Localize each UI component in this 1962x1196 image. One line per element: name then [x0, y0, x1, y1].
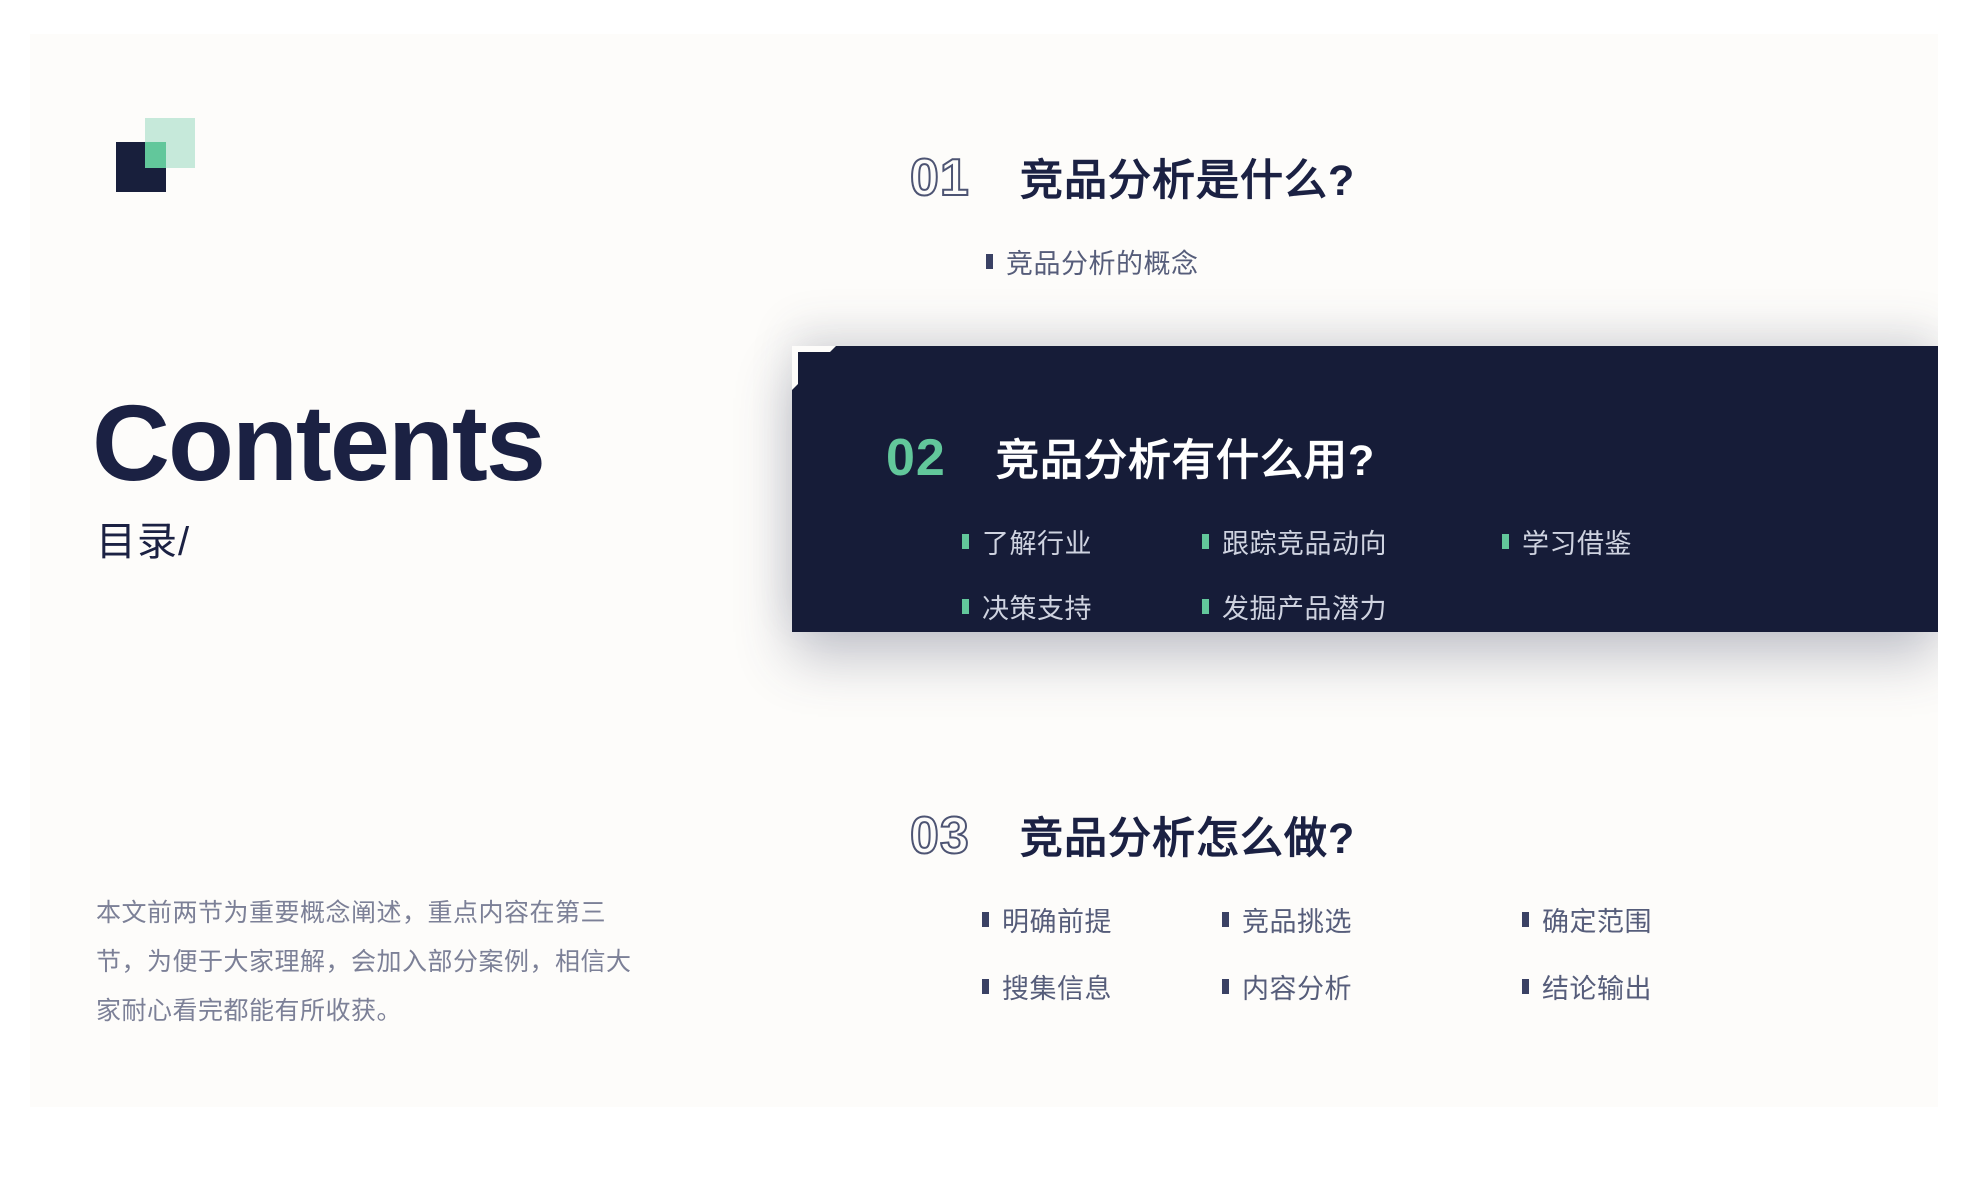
bullet-square-icon — [1522, 912, 1529, 927]
list-item[interactable]: 内容分析 — [1222, 967, 1522, 1006]
list-item-label: 明确前提 — [1002, 900, 1112, 939]
slide-canvas: Contents 目录/ 本文前两节为重要概念阐述，重点内容在第三节，为便于大家… — [30, 34, 1938, 1107]
section-02-bullet-row-1: 了解行业 跟踪竞品动向 学习借鉴 — [962, 522, 1742, 561]
list-item[interactable]: 学习借鉴 — [1502, 522, 1742, 561]
list-item[interactable]: 竞品分析的概念 — [986, 242, 1226, 281]
bullet-square-icon — [962, 599, 969, 614]
list-item-label: 竞品挑选 — [1242, 900, 1352, 939]
bullet-square-icon — [1202, 599, 1209, 614]
list-item-label: 搜集信息 — [1002, 967, 1112, 1006]
list-item[interactable]: 决策支持 — [962, 587, 1202, 626]
bullet-square-icon — [1522, 979, 1529, 994]
list-item[interactable]: 结论输出 — [1522, 967, 1762, 1006]
section-item-01[interactable]: 01 竞品分析是什么? 竞品分析的概念 — [910, 152, 1355, 281]
list-item[interactable]: 确定范围 — [1522, 900, 1762, 939]
section-03-title: 竞品分析怎么做? — [1020, 818, 1355, 861]
section-item-02[interactable]: 02 竞品分析有什么用? 了解行业 跟踪竞品动向 学习借鉴 — [886, 432, 1742, 626]
section-03-bullet-row-2: 搜集信息 内容分析 结论输出 — [982, 967, 1762, 1006]
list-item-label: 确定范围 — [1542, 900, 1652, 939]
bullet-square-icon — [1502, 534, 1509, 549]
list-item[interactable]: 搜集信息 — [982, 967, 1222, 1006]
section-item-03[interactable]: 03 竞品分析怎么做? 明确前提 竞品挑选 确定范围 — [910, 810, 1762, 1006]
section-01-title: 竞品分析是什么? — [1020, 160, 1355, 203]
list-item-label: 跟踪竞品动向 — [1222, 522, 1387, 561]
section-01-bullet-row: 竞品分析的概念 — [986, 242, 1355, 281]
list-item-label: 学习借鉴 — [1522, 522, 1632, 561]
section-01-number: 01 — [910, 152, 1020, 204]
bullet-square-icon — [982, 979, 989, 994]
sections-list: 01 竞品分析是什么? 竞品分析的概念 02 竞品分析有什么用? 了解行业 — [30, 34, 1938, 1107]
list-item-label: 发掘产品潜力 — [1222, 587, 1387, 626]
list-item-label: 了解行业 — [982, 522, 1092, 561]
list-item[interactable]: 竞品挑选 — [1222, 900, 1522, 939]
list-item[interactable]: 明确前提 — [982, 900, 1222, 939]
section-03-number: 03 — [910, 810, 1020, 862]
section-02-bullet-row-2: 决策支持 发掘产品潜力 — [962, 587, 1742, 626]
list-item-label: 内容分析 — [1242, 967, 1352, 1006]
list-item[interactable]: 跟踪竞品动向 — [1202, 522, 1502, 561]
bullet-square-icon — [986, 254, 993, 269]
bullet-square-icon — [962, 534, 969, 549]
list-item-label: 结论输出 — [1542, 967, 1652, 1006]
bullet-square-icon — [1202, 534, 1209, 549]
bullet-square-icon — [1222, 979, 1229, 994]
section-02-header: 02 竞品分析有什么用? — [886, 432, 1742, 484]
bullet-square-icon — [1222, 912, 1229, 927]
section-02-title: 竞品分析有什么用? — [996, 440, 1375, 483]
section-01-header: 01 竞品分析是什么? — [910, 152, 1355, 204]
bullet-square-icon — [982, 912, 989, 927]
list-item-label: 竞品分析的概念 — [1006, 242, 1199, 281]
list-item-label: 决策支持 — [982, 587, 1092, 626]
section-03-bullet-row-1: 明确前提 竞品挑选 确定范围 — [982, 900, 1762, 939]
section-02-number: 02 — [886, 432, 996, 484]
section-03-header: 03 竞品分析怎么做? — [910, 810, 1762, 862]
list-item[interactable]: 发掘产品潜力 — [1202, 587, 1502, 626]
list-item[interactable]: 了解行业 — [962, 522, 1202, 561]
